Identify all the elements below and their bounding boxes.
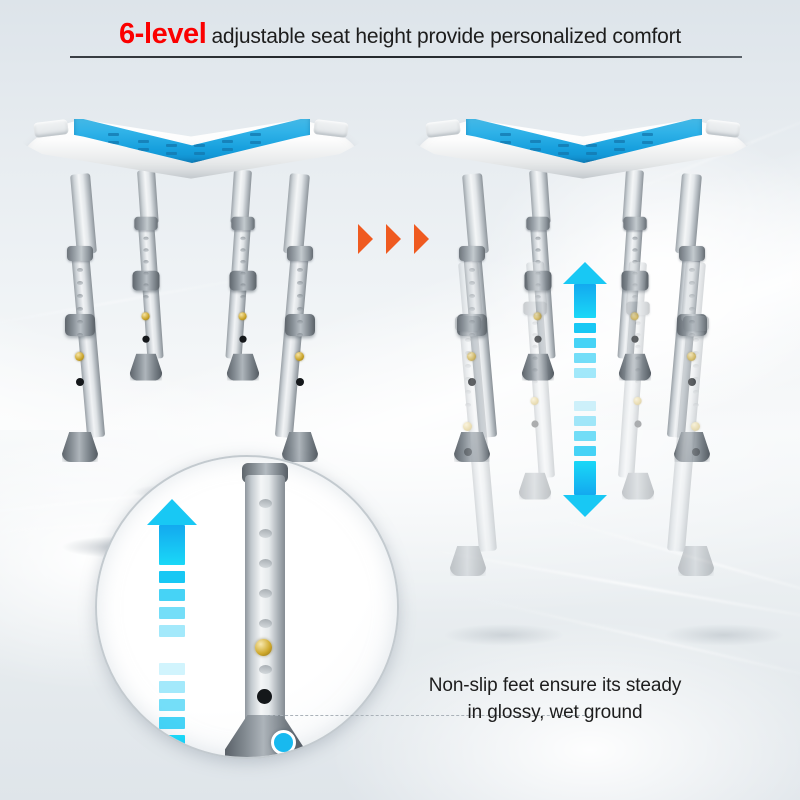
adjustment-hole xyxy=(259,589,272,598)
adjustment-hole xyxy=(297,268,303,272)
chevron-right-icon xyxy=(386,224,401,254)
leg-collar xyxy=(134,217,157,231)
caption-line-2: in glossy, wet ground xyxy=(390,699,720,726)
arrow-segment xyxy=(574,416,596,426)
arrow-segment xyxy=(159,663,185,675)
adjustment-hole xyxy=(77,281,83,285)
leg-collar xyxy=(683,316,709,331)
callout-caption: Non-slip feet ensure its steady in gloss… xyxy=(390,672,720,726)
adjustment-hole xyxy=(240,283,245,287)
arrow-shaft-up xyxy=(159,525,185,565)
seat-hole xyxy=(138,140,149,143)
adjustment-hole xyxy=(77,333,83,337)
arrow-segment xyxy=(574,431,596,441)
seat-hole xyxy=(642,141,653,144)
seat-hole xyxy=(558,144,569,147)
seat-hole xyxy=(614,140,625,143)
adjustment-hole xyxy=(535,248,540,252)
seat-hole xyxy=(222,148,233,151)
leg-lower-tube xyxy=(275,251,309,438)
seat xyxy=(22,112,360,190)
adjustment-hole xyxy=(465,338,471,342)
foot-shadow xyxy=(664,624,784,646)
adjustment-hole xyxy=(635,368,640,372)
adjustment-hole xyxy=(532,333,537,337)
adjustment-hole xyxy=(693,403,699,407)
adjustment-hole xyxy=(240,260,245,264)
through-hole xyxy=(257,689,272,704)
seat-hole xyxy=(166,152,177,155)
leg-collar xyxy=(459,246,485,261)
arrow-segment xyxy=(574,368,596,378)
foot-shadow xyxy=(444,624,564,646)
adjustment-hole xyxy=(635,380,640,384)
leg-collar xyxy=(623,217,646,231)
adjustment-hole xyxy=(297,333,303,337)
adjustment-hole xyxy=(297,320,303,324)
seat-hole xyxy=(166,144,177,147)
callout-dot xyxy=(271,730,296,755)
arrow-segment xyxy=(159,681,185,693)
brass-locking-pin xyxy=(75,352,84,361)
seat-hole xyxy=(250,133,261,136)
adjustment-hole xyxy=(532,368,537,372)
adjustment-hole xyxy=(532,380,537,384)
headline-highlight: 6-level xyxy=(119,18,207,51)
product-infographic: 6-leveladjustable seat height provide pe… xyxy=(0,0,800,800)
brass-locking-pin xyxy=(255,639,272,656)
leg-collar xyxy=(231,217,254,231)
adjustment-hole xyxy=(259,499,272,508)
arrow-segment xyxy=(574,338,596,348)
adjustment-hole xyxy=(693,390,699,394)
adjustment-hole xyxy=(259,559,272,568)
chevron-right-icon xyxy=(358,224,373,254)
seat-hole xyxy=(222,140,233,143)
adjustment-hole xyxy=(297,307,303,311)
through-hole xyxy=(531,420,538,427)
arrow-segment xyxy=(574,353,596,363)
adjustment-hole xyxy=(635,357,640,361)
arrow-shaft-down xyxy=(159,735,185,759)
header-divider xyxy=(70,56,742,58)
arrow-segment xyxy=(574,323,596,333)
seat-hole xyxy=(530,140,541,143)
adjustment-hole xyxy=(465,351,471,355)
adjustment-hole xyxy=(532,321,537,325)
leg-collar xyxy=(679,246,705,261)
through-hole xyxy=(692,448,700,456)
leg-collar xyxy=(626,302,649,316)
brass-locking-pin xyxy=(463,422,472,431)
adjustment-hole xyxy=(259,665,272,674)
leg-lower-tube xyxy=(71,251,105,438)
arrow-segment xyxy=(159,699,185,711)
arrow-segment xyxy=(574,401,596,411)
brass-locking-pin xyxy=(295,352,304,361)
arrow-segment xyxy=(159,571,185,583)
headline-text: adjustable seat height provide personali… xyxy=(211,25,681,49)
adjustment-hole xyxy=(143,260,148,264)
seat-hole xyxy=(586,152,597,155)
seat-hole xyxy=(108,133,119,136)
adjustment-hole xyxy=(532,345,537,349)
adjustment-hole xyxy=(465,364,471,368)
adjustment-hole xyxy=(240,295,245,299)
brass-locking-pin xyxy=(142,312,150,320)
adjustment-hole xyxy=(77,320,83,324)
adjustment-hole xyxy=(635,321,640,325)
adjustment-hole xyxy=(143,283,148,287)
adjustment-hole xyxy=(635,333,640,337)
adjustment-hole xyxy=(143,272,148,276)
arrow-segment xyxy=(159,607,185,619)
adjustment-hole xyxy=(465,377,471,381)
arrow-segment xyxy=(159,625,185,637)
adjustment-hole xyxy=(77,294,83,298)
adjustment-hole xyxy=(297,294,303,298)
adjustment-hole xyxy=(693,338,699,342)
arrow-head-up xyxy=(563,262,607,284)
seat-hole xyxy=(558,152,569,155)
adjustment-hole xyxy=(143,295,148,299)
adjustment-hole xyxy=(143,248,148,252)
arrow-segment xyxy=(159,589,185,601)
arrow-shaft-up xyxy=(574,284,596,318)
arrow-segment xyxy=(159,717,185,729)
leg-upper-tube xyxy=(526,261,547,307)
leg-upper-tube xyxy=(626,261,647,307)
adjustment-hole xyxy=(693,351,699,355)
adjustment-hole xyxy=(465,390,471,394)
seat-hole xyxy=(614,148,625,151)
through-hole xyxy=(142,336,149,343)
adjustment-hole xyxy=(240,248,245,252)
telescoping-leg-tube xyxy=(245,475,285,723)
brass-locking-pin xyxy=(634,397,642,405)
adjustment-hole xyxy=(632,237,637,241)
caption-line-1: Non-slip feet ensure its steady xyxy=(390,672,720,699)
seat xyxy=(414,112,752,190)
arrow-segment xyxy=(574,446,596,456)
adjustment-hole xyxy=(259,529,272,538)
through-hole xyxy=(239,336,246,343)
seat-hole xyxy=(642,133,653,136)
through-hole xyxy=(296,378,304,386)
through-hole xyxy=(634,420,641,427)
adjustment-hole xyxy=(635,345,640,349)
adjustment-hole xyxy=(532,357,537,361)
through-hole xyxy=(76,378,84,386)
headline: 6-leveladjustable seat height provide pe… xyxy=(0,18,800,51)
leg-collar xyxy=(287,246,313,261)
adjustment-hole xyxy=(143,237,148,241)
adjustment-hole xyxy=(693,364,699,368)
adjustment-hole xyxy=(77,307,83,311)
seat-hole xyxy=(194,152,205,155)
brass-locking-pin xyxy=(691,422,700,431)
magnifier-inset xyxy=(95,455,399,759)
leg-collar xyxy=(455,316,481,331)
adjustment-hole xyxy=(693,377,699,381)
leg-collar xyxy=(523,302,546,316)
adjustment-hole xyxy=(535,237,540,241)
seat-hole xyxy=(250,141,261,144)
arrow-shaft-down xyxy=(574,461,596,495)
adjustment-hole xyxy=(77,268,83,272)
adjustment-hole xyxy=(465,403,471,407)
adjustment-hole xyxy=(240,237,245,241)
arrow-head-down xyxy=(563,495,607,517)
adjustment-hole xyxy=(297,281,303,285)
leg-collar xyxy=(526,217,549,231)
seat-hole xyxy=(500,133,511,136)
brass-locking-pin xyxy=(531,397,539,405)
adjustment-hole xyxy=(240,272,245,276)
adjustment-hole xyxy=(259,619,272,628)
through-hole xyxy=(464,448,472,456)
leg-collar xyxy=(67,246,93,261)
brass-locking-pin xyxy=(239,312,247,320)
arrow-head-up xyxy=(147,499,197,525)
adjustment-hole xyxy=(632,248,637,252)
